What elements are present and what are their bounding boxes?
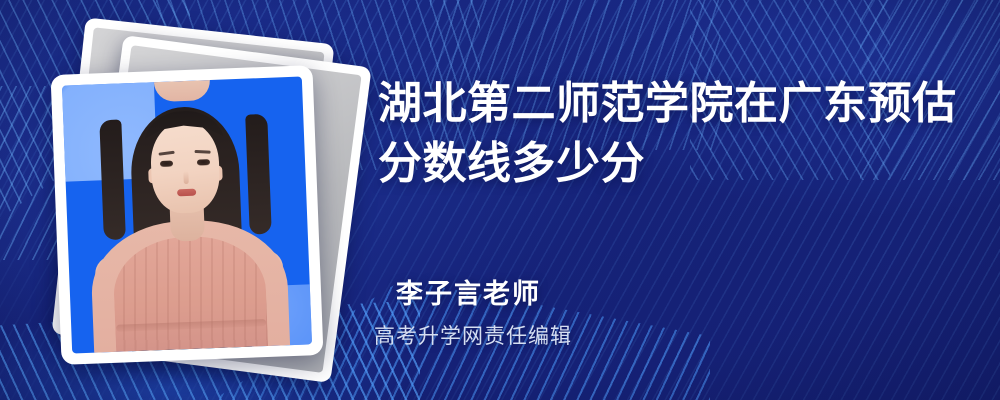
portrait-hair-right <box>245 114 272 235</box>
photo-card-stack <box>48 28 368 378</box>
portrait-nose <box>183 171 188 184</box>
article-header-banner: 湖北第二师范学院在广东预估分数线多少分 李子言老师 高考升学网责任编辑 <box>0 0 1000 400</box>
author-name: 李子言老师 <box>396 272 541 311</box>
portrait-lips <box>177 189 196 197</box>
banner-text-column: 湖北第二师范学院在广东预估分数线多少分 李子言老师 高考升学网责任编辑 <box>372 0 972 400</box>
author-photo-card <box>51 65 324 365</box>
portrait-dress-collar <box>154 80 211 102</box>
author-role: 高考升学网责任编辑 <box>374 320 572 350</box>
author-photo <box>62 76 312 353</box>
article-title: 湖北第二师范学院在广东预估分数线多少分 <box>378 74 958 194</box>
author-portrait <box>62 76 312 353</box>
portrait-eye-right <box>197 159 210 165</box>
portrait-eye-left <box>160 161 173 167</box>
portrait-hair-left <box>99 119 126 240</box>
